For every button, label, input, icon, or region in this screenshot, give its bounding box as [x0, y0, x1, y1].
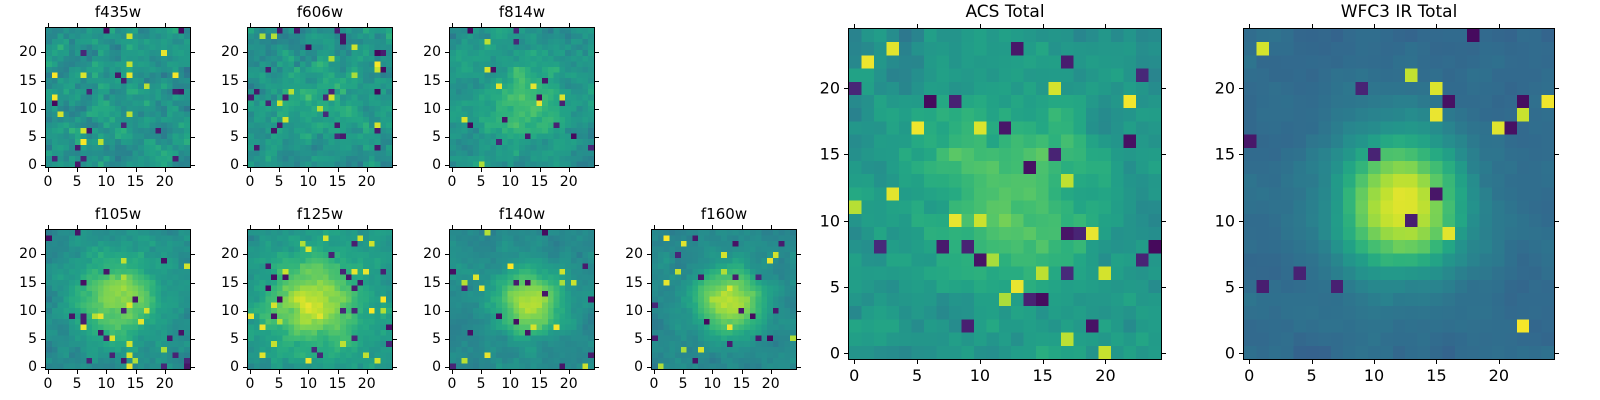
- panel-f125w-xtick-5: [279, 370, 280, 374]
- panel-wfc3-ir-total-xticklabel-15: 15: [1426, 366, 1446, 385]
- panel-f105w-image[interactable]: [45, 229, 191, 370]
- panel-f606w-xticklabel-0: 0: [245, 174, 254, 190]
- panel-f814w-xticklabel-10: 10: [501, 174, 519, 190]
- panel-f140w-ytick-right-0: [595, 367, 599, 368]
- panel-f160w-ytick-right-15: [797, 283, 801, 284]
- panel-f125w-xticklabel-15: 15: [329, 376, 347, 392]
- panel-f140w-xticklabel-5: 5: [477, 376, 486, 392]
- panel-f125w-ytick-right-5: [393, 339, 397, 340]
- panel-acs-total-ytick-right-5: [1162, 287, 1166, 288]
- panel-wfc3-ir-total-yticklabel-0: 0: [1179, 344, 1235, 363]
- panel-wfc3-ir-total-ytick-right-15: [1555, 154, 1559, 155]
- panel-acs-total-ytick-right-15: [1162, 154, 1166, 155]
- panel-wfc3-ir-total-yticklabel-20: 20: [1179, 78, 1235, 97]
- panel-f105w-xticklabel-5: 5: [73, 376, 82, 392]
- panel-f105w-yticklabel-10: 10: [0, 303, 37, 319]
- panel-f125w-title: f125w: [247, 207, 393, 223]
- panel-f125w-ytick-right-20: [393, 254, 397, 255]
- panel-f140w-xticklabel-10: 10: [501, 376, 519, 392]
- panel-f814w-yticklabel-15: 15: [385, 73, 441, 89]
- panel-f105w-xtick-5: [77, 370, 78, 374]
- panel-f160w-yticklabel-0: 0: [587, 359, 643, 375]
- panel-f814w-xtick-15: [540, 168, 541, 172]
- panel-f606w-yticklabel-5: 5: [183, 129, 239, 145]
- panel-f125w-xtick-15: [338, 370, 339, 374]
- panel-f435w-xticklabel-5: 5: [73, 174, 82, 190]
- panel-f125w-xtick-0: [250, 370, 251, 374]
- panel-f160w-xtick-5: [683, 370, 684, 374]
- panel-acs-total-xtick-0: [854, 360, 855, 364]
- panel-wfc3-ir-total-xtick-20: [1499, 360, 1500, 364]
- panel-f435w-yticklabel-0: 0: [0, 157, 37, 173]
- panel-f435w-xtick-0: [48, 168, 49, 172]
- panel-f140w-yticklabel-10: 10: [385, 303, 441, 319]
- panel-f160w-title: f160w: [651, 207, 797, 223]
- panel-f435w-yticklabel-20: 20: [0, 44, 37, 60]
- panel-f160w-ytick-right-5: [797, 339, 801, 340]
- panel-f435w-yticklabel-10: 10: [0, 101, 37, 117]
- panel-f160w-xtick-10: [712, 370, 713, 374]
- panel-wfc3-ir-total-xticklabel-20: 20: [1489, 366, 1509, 385]
- panel-f140w-xticklabel-0: 0: [447, 376, 456, 392]
- panel-f105w-xtick-10: [106, 370, 107, 374]
- panel-f160w-yticklabel-10: 10: [587, 303, 643, 319]
- panel-f160w-ytick-right-0: [797, 367, 801, 368]
- panel-f160w-yticklabel-15: 15: [587, 275, 643, 291]
- panel-f814w-ytick-right-0: [595, 165, 599, 166]
- figure-canvas: f435w0510152005101520f606w05101520051015…: [0, 0, 1600, 400]
- panel-f105w-ytick-right-0: [191, 367, 195, 368]
- panel-wfc3-ir-total-xticklabel-10: 10: [1364, 366, 1384, 385]
- panel-f606w-ytick-right-20: [393, 52, 397, 53]
- panel-f105w-xticklabel-0: 0: [43, 376, 52, 392]
- panel-f814w-title: f814w: [449, 5, 595, 21]
- panel-f140w-yticklabel-5: 5: [385, 331, 441, 347]
- panel-f814w-image[interactable]: [449, 27, 595, 168]
- panel-f606w-ytick-right-0: [393, 165, 397, 166]
- panel-f435w-ytick-right-0: [191, 165, 195, 166]
- panel-acs-total-ytick-right-10: [1162, 221, 1166, 222]
- panel-f125w-yticklabel-15: 15: [183, 275, 239, 291]
- panel-f435w-xtick-20: [165, 168, 166, 172]
- panel-f435w-xticklabel-15: 15: [127, 174, 145, 190]
- panel-f160w-xtick-20: [771, 370, 772, 374]
- panel-wfc3-ir-total-xtick-5: [1312, 360, 1313, 364]
- panel-f125w-xticklabel-20: 20: [358, 376, 376, 392]
- panel-wfc3-ir-total-ytick-right-20: [1555, 88, 1559, 89]
- panel-wfc3-ir-total-yticklabel-15: 15: [1179, 145, 1235, 164]
- panel-f606w-xticklabel-15: 15: [329, 174, 347, 190]
- panel-acs-total-ytick-right-20: [1162, 88, 1166, 89]
- panel-f606w-xtick-5: [279, 168, 280, 172]
- panel-f435w-yticklabel-5: 5: [0, 129, 37, 145]
- panel-f814w-yticklabel-5: 5: [385, 129, 441, 145]
- panel-f435w-xtick-15: [136, 168, 137, 172]
- panel-f435w-xtick-10: [106, 168, 107, 172]
- panel-f105w-ytick-right-10: [191, 311, 195, 312]
- panel-f105w-ytick-right-15: [191, 283, 195, 284]
- panel-f814w-yticklabel-0: 0: [385, 157, 441, 173]
- panel-f140w-xtick-0: [452, 370, 453, 374]
- panel-wfc3-ir-total-ytick-right-5: [1555, 287, 1559, 288]
- panel-acs-total-xtick-10: [980, 360, 981, 364]
- panel-f140w-xticklabel-15: 15: [531, 376, 549, 392]
- panel-f160w-yticklabel-5: 5: [587, 331, 643, 347]
- panel-f125w-ytick-right-0: [393, 367, 397, 368]
- panel-f435w-ytick-right-15: [191, 81, 195, 82]
- panel-f606w-xtick-15: [338, 168, 339, 172]
- panel-f814w-xticklabel-15: 15: [531, 174, 549, 190]
- panel-f125w-yticklabel-10: 10: [183, 303, 239, 319]
- panel-f814w-xticklabel-20: 20: [560, 174, 578, 190]
- panel-wfc3-ir-total-xtick-0: [1249, 360, 1250, 364]
- panel-f435w-image[interactable]: [45, 27, 191, 168]
- panel-f814w-xtick-0: [452, 168, 453, 172]
- panel-wfc3-ir-total-xtick-15: [1436, 360, 1437, 364]
- panel-f435w-xticklabel-10: 10: [97, 174, 115, 190]
- panel-f160w-xticklabel-10: 10: [703, 376, 721, 392]
- panel-wfc3-ir-total-xticklabel-0: 0: [1244, 366, 1254, 385]
- panel-f435w-ytick-right-10: [191, 109, 195, 110]
- panel-f125w-yticklabel-0: 0: [183, 359, 239, 375]
- panel-acs-total-xticklabel-15: 15: [1032, 366, 1052, 385]
- panel-f606w-ytick-right-10: [393, 109, 397, 110]
- panel-f814w-xticklabel-0: 0: [447, 174, 456, 190]
- panel-f105w-xticklabel-15: 15: [127, 376, 145, 392]
- panel-acs-total-ytick-right-0: [1162, 353, 1166, 354]
- panel-f606w-title: f606w: [247, 5, 393, 21]
- panel-wfc3-ir-total-ytick-right-10: [1555, 221, 1559, 222]
- panel-f105w-xtick-0: [48, 370, 49, 374]
- panel-f606w-ytick-right-15: [393, 81, 397, 82]
- panel-acs-total-xtick-20: [1105, 360, 1106, 364]
- panel-f140w-yticklabel-20: 20: [385, 246, 441, 262]
- panel-f814w-xtick-5: [481, 168, 482, 172]
- panel-f105w-yticklabel-5: 5: [0, 331, 37, 347]
- panel-acs-total-xticklabel-5: 5: [912, 366, 922, 385]
- panel-f435w-yticklabel-15: 15: [0, 73, 37, 89]
- panel-f140w-xtick-5: [481, 370, 482, 374]
- panel-acs-total-xticklabel-0: 0: [849, 366, 859, 385]
- panel-f606w-xtick-0: [250, 168, 251, 172]
- panel-f140w-ytick-right-15: [595, 283, 599, 284]
- panel-wfc3-ir-total-xtick-10: [1374, 360, 1375, 364]
- panel-f814w-ytick-right-10: [595, 109, 599, 110]
- panel-wfc3-ir-total-title: WFC3 IR Total: [1243, 4, 1555, 22]
- panel-wfc3-ir-total-yticklabel-5: 5: [1179, 277, 1235, 296]
- panel-f814w-ytick-right-15: [595, 81, 599, 82]
- panel-wfc3-ir-total-image[interactable]: [1243, 28, 1555, 360]
- panel-f140w-ytick-right-20: [595, 254, 599, 255]
- panel-f140w-xtick-15: [540, 370, 541, 374]
- panel-f125w-ytick-right-10: [393, 311, 397, 312]
- panel-f606w-ytick-right-5: [393, 137, 397, 138]
- panel-f814w-xtick-20: [569, 168, 570, 172]
- panel-f125w-image[interactable]: [247, 229, 393, 370]
- panel-f606w-xticklabel-10: 10: [299, 174, 317, 190]
- panel-f435w-ytick-right-5: [191, 137, 195, 138]
- panel-f606w-yticklabel-0: 0: [183, 157, 239, 173]
- panel-wfc3-ir-total-xticklabel-5: 5: [1307, 366, 1317, 385]
- panel-f140w-ytick-right-10: [595, 311, 599, 312]
- panel-f140w-ytick-right-5: [595, 339, 599, 340]
- panel-f814w-yticklabel-10: 10: [385, 101, 441, 117]
- panel-acs-total-title: ACS Total: [848, 4, 1162, 22]
- panel-f435w-xticklabel-0: 0: [43, 174, 52, 190]
- panel-acs-total-xtick-5: [917, 360, 918, 364]
- panel-f606w-xtick-10: [308, 168, 309, 172]
- panel-f140w-xtick-10: [510, 370, 511, 374]
- panel-f814w-ytick-right-20: [595, 52, 599, 53]
- panel-f125w-xticklabel-10: 10: [299, 376, 317, 392]
- panel-f105w-title: f105w: [45, 207, 191, 223]
- panel-f606w-image[interactable]: [247, 27, 393, 168]
- panel-wfc3-ir-total: WFC3 IR Total0510152005101520: [0, 0, 1600, 400]
- panel-f140w-xtick-20: [569, 370, 570, 374]
- panel-f435w-xtick-5: [77, 168, 78, 172]
- panel-f160w-xticklabel-15: 15: [733, 376, 751, 392]
- panel-f814w-yticklabel-20: 20: [385, 44, 441, 60]
- panel-f160w-xtick-15: [742, 370, 743, 374]
- panel-wfc3-ir-total-ytick-right-0: [1555, 353, 1559, 354]
- panel-f814w-xticklabel-5: 5: [477, 174, 486, 190]
- panel-f606w-xticklabel-20: 20: [358, 174, 376, 190]
- panel-acs-total-yticklabel-20: 20: [784, 78, 840, 97]
- panel-f125w-xticklabel-5: 5: [275, 376, 284, 392]
- panel-f160w-xticklabel-0: 0: [649, 376, 658, 392]
- panel-acs-total-xticklabel-10: 10: [970, 366, 990, 385]
- panel-f125w-ytick-right-15: [393, 283, 397, 284]
- panel-f160w-ytick-right-10: [797, 311, 801, 312]
- panel-f140w-yticklabel-15: 15: [385, 275, 441, 291]
- panel-f160w-xtick-0: [654, 370, 655, 374]
- panel-f140w-title: f140w: [449, 207, 595, 223]
- panel-f606w-xtick-20: [367, 168, 368, 172]
- panel-f160w-xticklabel-5: 5: [679, 376, 688, 392]
- panel-f140w-image[interactable]: [449, 229, 595, 370]
- panel-f814w-xtick-10: [510, 168, 511, 172]
- panel-wfc3-ir-total-yticklabel-10: 10: [1179, 211, 1235, 230]
- panel-f105w-ytick-right-5: [191, 339, 195, 340]
- panel-acs-total-xticklabel-20: 20: [1095, 366, 1115, 385]
- panel-f105w-xticklabel-20: 20: [156, 376, 174, 392]
- panel-f125w-yticklabel-5: 5: [183, 331, 239, 347]
- panel-acs-total-yticklabel-15: 15: [784, 145, 840, 164]
- panel-f125w-yticklabel-20: 20: [183, 246, 239, 262]
- panel-f105w-yticklabel-15: 15: [0, 275, 37, 291]
- panel-acs-total-image[interactable]: [848, 28, 1162, 360]
- panel-f160w-ytick-right-20: [797, 254, 801, 255]
- panel-f105w-xticklabel-10: 10: [97, 376, 115, 392]
- panel-f160w-yticklabel-20: 20: [587, 246, 643, 262]
- panel-f606w-yticklabel-20: 20: [183, 44, 239, 60]
- panel-f125w-xtick-10: [308, 370, 309, 374]
- panel-f606w-xticklabel-5: 5: [275, 174, 284, 190]
- panel-f105w-yticklabel-0: 0: [0, 359, 37, 375]
- panel-f125w-xtick-20: [367, 370, 368, 374]
- panel-f160w-xticklabel-20: 20: [762, 376, 780, 392]
- panel-f140w-yticklabel-0: 0: [385, 359, 441, 375]
- panel-acs-total-xtick-15: [1043, 360, 1044, 364]
- panel-f105w-xtick-20: [165, 370, 166, 374]
- panel-f435w-title: f435w: [45, 5, 191, 21]
- panel-f105w-ytick-right-20: [191, 254, 195, 255]
- panel-f105w-xtick-15: [136, 370, 137, 374]
- panel-f606w-yticklabel-15: 15: [183, 73, 239, 89]
- panel-f125w-xticklabel-0: 0: [245, 376, 254, 392]
- panel-f435w-xticklabel-20: 20: [156, 174, 174, 190]
- panel-f140w-xticklabel-20: 20: [560, 376, 578, 392]
- panel-f160w-image[interactable]: [651, 229, 797, 370]
- panel-f606w-yticklabel-10: 10: [183, 101, 239, 117]
- panel-f435w-ytick-right-20: [191, 52, 195, 53]
- panel-f814w-ytick-right-5: [595, 137, 599, 138]
- panel-f105w-yticklabel-20: 20: [0, 246, 37, 262]
